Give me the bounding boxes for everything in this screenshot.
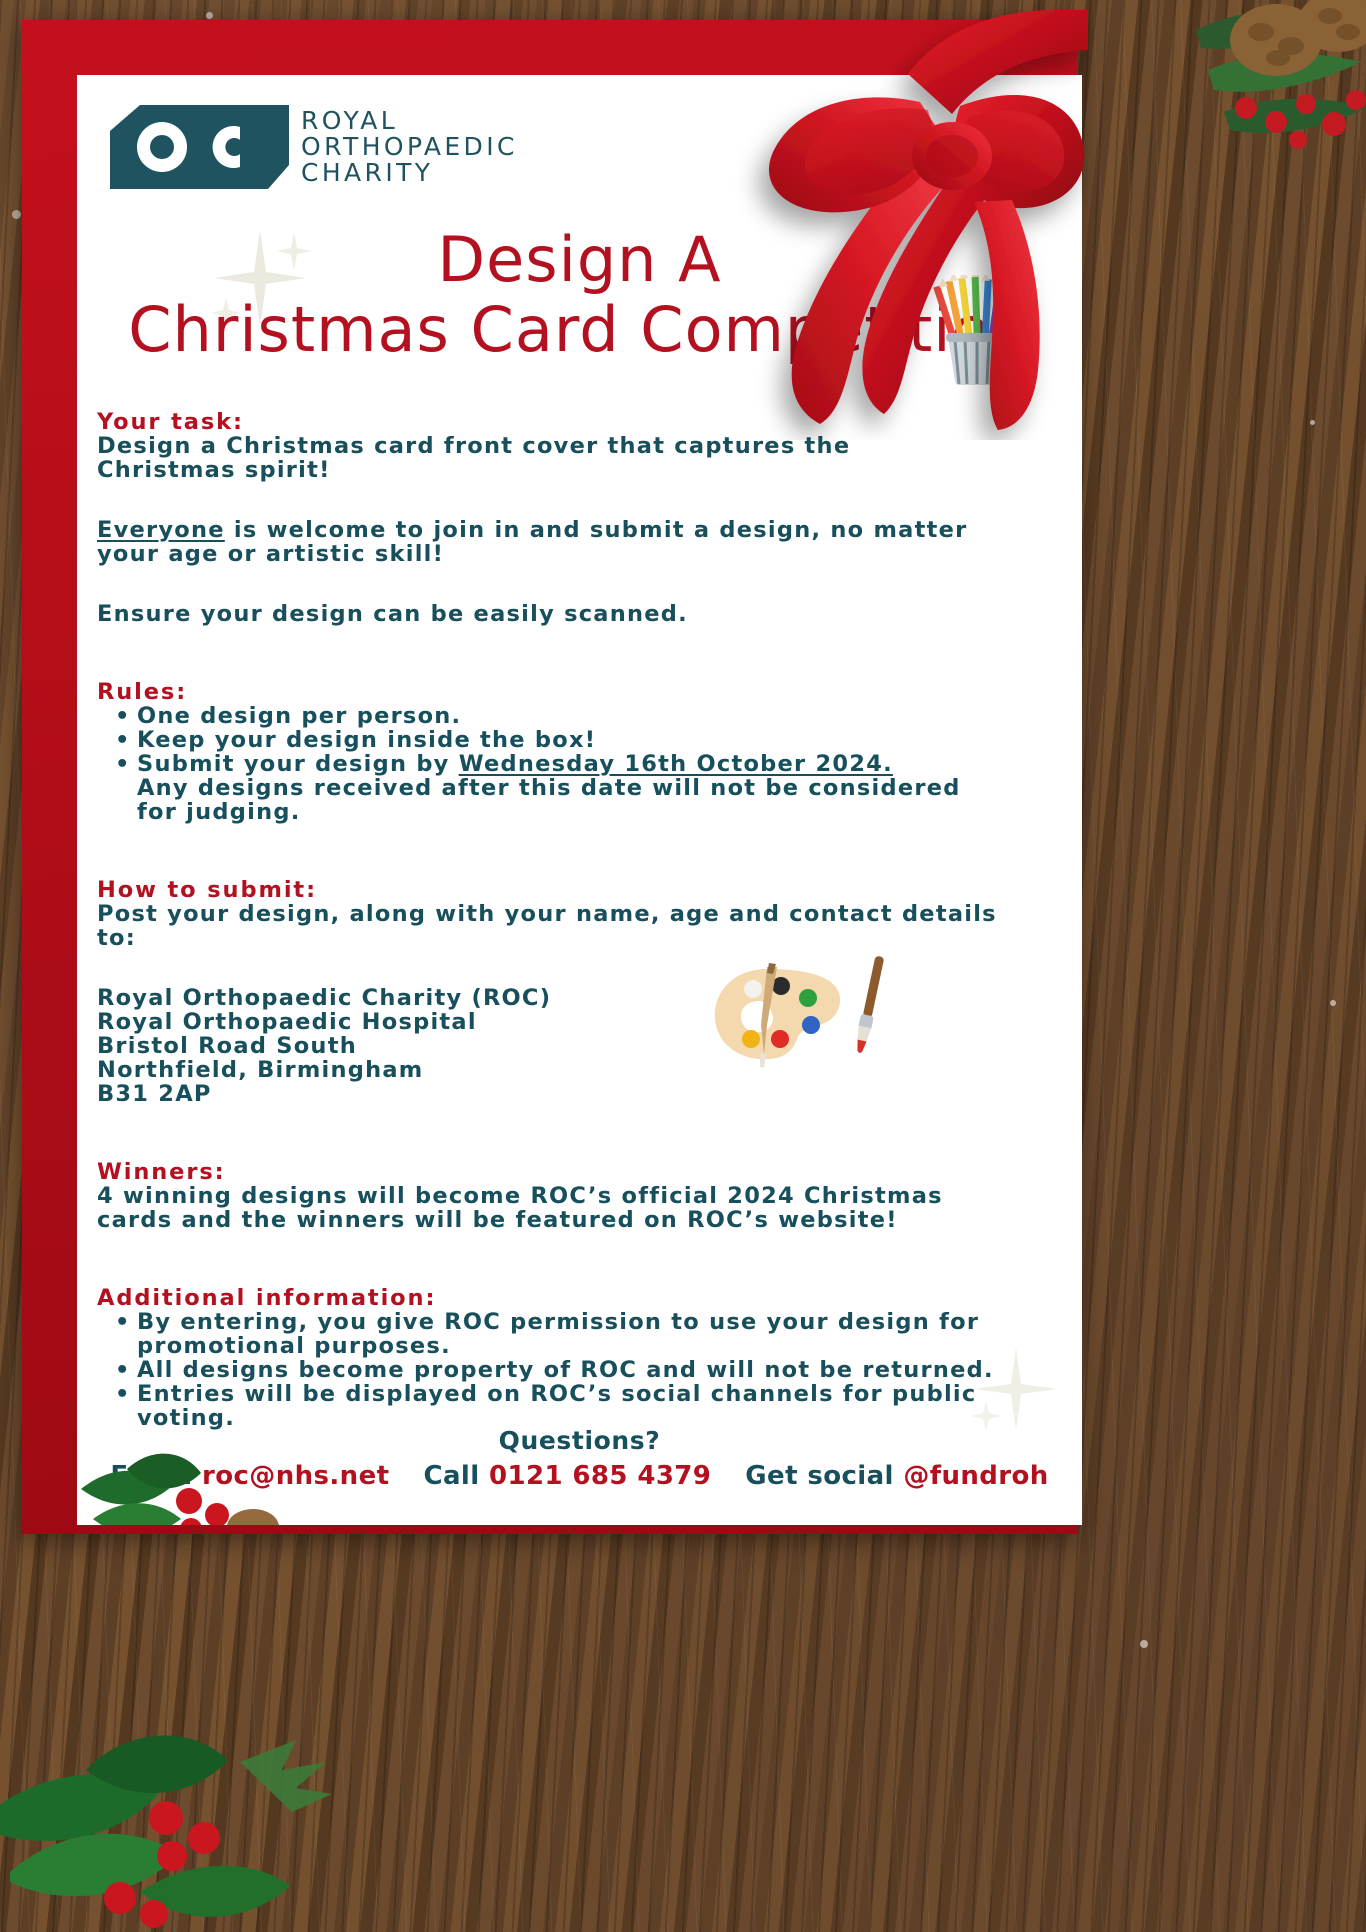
- footer-email-label: Email: [110, 1461, 192, 1491]
- additional-info-list: All designs become property of ROC and w…: [97, 1358, 1062, 1406]
- everyone-line-2: your age or artistic skill!: [97, 542, 1062, 566]
- additional-info-item: Entries will be displayed on ROC’s socia…: [97, 1382, 1062, 1406]
- snow-dot: [1310, 420, 1315, 425]
- postal-address: Royal Orthopaedic Charity (ROC) Royal Or…: [97, 986, 1062, 1106]
- snow-dot: [1330, 1000, 1336, 1006]
- snow-dot: [206, 12, 213, 19]
- poster-card: ROYAL ORTHOPAEDIC CHARITY Design A Chris…: [77, 75, 1082, 1525]
- address-line: Bristol Road South: [97, 1034, 1062, 1058]
- section-heading-additional-information: Additional information:: [97, 1286, 1062, 1310]
- logo-word-line3: CHARITY: [301, 160, 518, 186]
- roc-logo: ROYAL ORTHOPAEDIC CHARITY: [110, 105, 518, 189]
- rules-deadline-date: Wednesday 16th October 2024.: [459, 751, 893, 777]
- footer-social-handle[interactable]: @fundroh: [903, 1461, 1048, 1491]
- everyone-rest: is welcome to join in and submit a desig…: [225, 517, 968, 543]
- footer-email: Email roc@nhs.net: [110, 1461, 389, 1491]
- logo-word-line1: ROYAL: [301, 108, 518, 134]
- roc-logo-wordmark: ROYAL ORTHOPAEDIC CHARITY: [301, 108, 518, 186]
- rules-item: Keep your design inside the box!: [97, 728, 1062, 752]
- poster-root: ROYAL ORTHOPAEDIC CHARITY Design A Chris…: [0, 0, 1366, 1932]
- sparkle-icon: [202, 220, 312, 330]
- footer-contact-row: Email roc@nhs.net Call 0121 685 4379 Get…: [77, 1461, 1082, 1491]
- additional-info-item: By entering, you give ROC permission to …: [97, 1310, 1062, 1334]
- title-line-1: Design A: [77, 225, 1082, 295]
- footer-social: Get social @fundroh: [745, 1461, 1048, 1491]
- footer-social-label: Get social: [745, 1461, 894, 1491]
- winners-line-1: 4 winning designs will become ROC’s offi…: [97, 1184, 1062, 1208]
- holly-branch-wood-icon: [0, 1642, 410, 1932]
- submit-line-2: to:: [97, 926, 1062, 950]
- task-line-2: Christmas spirit!: [97, 458, 1062, 482]
- red-border-frame: ROYAL ORTHOPAEDIC CHARITY Design A Chris…: [22, 20, 1078, 1534]
- rules-item3-cont-2: for judging.: [97, 800, 1062, 824]
- title-line-2: Christmas Card Competition: [77, 295, 1082, 365]
- snow-dot: [12, 210, 21, 219]
- rules-item3-prefix: Submit your design by: [137, 751, 459, 777]
- additional-info-list: By entering, you give ROC permission to …: [97, 1310, 1062, 1334]
- address-line: Royal Orthopaedic Hospital: [97, 1010, 1062, 1034]
- submit-line-1: Post your design, along with your name, …: [97, 902, 1062, 926]
- footer-phone: Call 0121 685 4379: [423, 1461, 711, 1491]
- rules-item: One design per person.: [97, 704, 1062, 728]
- rules-item: Submit your design by Wednesday 16th Oct…: [97, 752, 1062, 776]
- rules-list: One design per person. Keep your design …: [97, 704, 1062, 776]
- address-line: B31 2AP: [97, 1082, 1062, 1106]
- task-line-1: Design a Christmas card front cover that…: [97, 434, 1062, 458]
- everyone-line-1: Everyone is welcome to join in and submi…: [97, 518, 1062, 542]
- footer-call-value[interactable]: 0121 685 4379: [489, 1461, 711, 1491]
- poster-footer: Questions? Email roc@nhs.net Call 0121 6…: [77, 1426, 1082, 1491]
- address-line: Northfield, Birmingham: [97, 1058, 1062, 1082]
- poster-body: Your task: Design a Christmas card front…: [97, 410, 1062, 1430]
- address-line: Royal Orthopaedic Charity (ROC): [97, 986, 1062, 1010]
- logo-word-line2: ORTHOPAEDIC: [301, 134, 518, 160]
- winners-line-2: cards and the winners will be featured o…: [97, 1208, 1062, 1232]
- roc-logo-mark-icon: [110, 105, 289, 189]
- section-heading-your-task: Your task:: [97, 410, 1062, 434]
- poster-title: Design A Christmas Card Competition: [77, 225, 1082, 365]
- section-heading-how-to-submit: How to submit:: [97, 878, 1062, 902]
- snow-dot: [1140, 1640, 1148, 1648]
- scan-note: Ensure your design can be easily scanned…: [97, 602, 1062, 626]
- rules-item3-cont-1: Any designs received after this date wil…: [97, 776, 1062, 800]
- additional-info-item1-cont: promotional purposes.: [97, 1334, 1062, 1358]
- footer-call-label: Call: [423, 1461, 479, 1491]
- section-heading-rules: Rules:: [97, 680, 1062, 704]
- additional-info-item: All designs become property of ROC and w…: [97, 1358, 1062, 1382]
- footer-email-value[interactable]: roc@nhs.net: [202, 1461, 389, 1491]
- everyone-underlined-word: Everyone: [97, 517, 225, 543]
- colored-pencils-cup-icon: [922, 275, 1032, 385]
- section-heading-winners: Winners:: [97, 1160, 1062, 1184]
- footer-questions-label: Questions?: [77, 1426, 1082, 1455]
